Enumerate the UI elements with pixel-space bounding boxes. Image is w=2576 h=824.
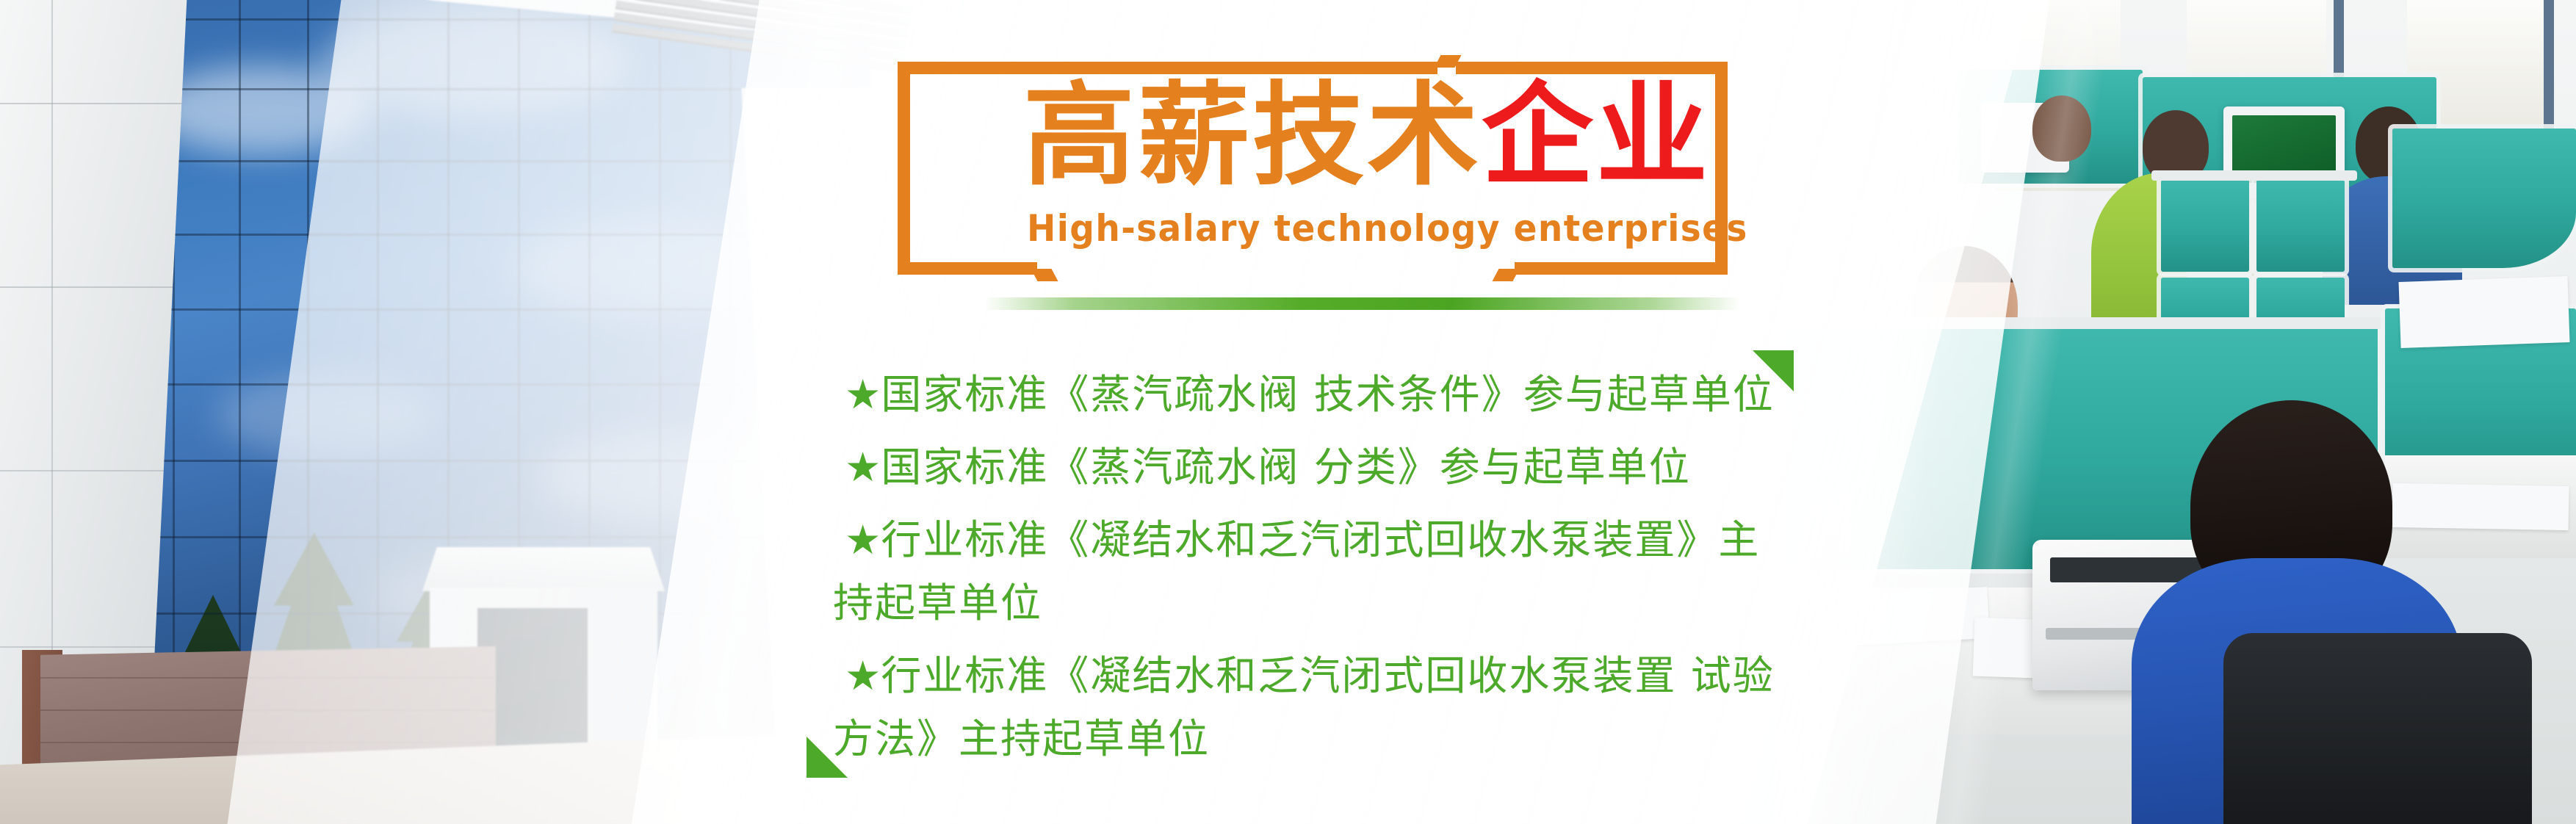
list-item: ★国家标准《蒸汽疏水阀 分类》参与起草单位 [845,434,1800,493]
frame-bevel-chip [1031,269,1058,281]
star-icon: ★ [845,652,881,699]
frame-left-bar [898,62,910,275]
list-item-continuation: 方法》主持起草单位 [833,706,1800,765]
page-subtitle: High-salary technology enterprises [1027,207,1748,250]
star-icon: ★ [845,444,881,491]
title-red-part: 企业 [1482,80,1711,192]
page-title: 高薪技术企业 [1023,70,1758,202]
list-item-continuation: 持起草单位 [833,570,1800,629]
list-item: ★国家标准《蒸汽疏水阀 技术条件》参与起草单位 [845,361,1800,420]
list-item-text: 方法》主持起草单位 [833,715,1210,762]
frame-bottom-right-bar [1515,262,1728,275]
green-divider-bar [984,297,1741,310]
title-orange-part: 高薪技术 [1023,80,1482,192]
list-item: ★行业标准《凝结水和乏汽闭式回收水泵装置》主 [845,507,1800,565]
list-item-text: 行业标准《凝结水和乏汽闭式回收水泵装置 试验 [881,652,1774,699]
hero-banner: 高薪技术企业 High-salary technology enterprise… [0,0,2576,824]
green-triangle-bottom-left-icon [807,737,848,778]
list-item-text: 国家标准《蒸汽疏水阀 分类》参与起草单位 [881,444,1690,491]
star-icon: ★ [845,516,881,563]
list-item-text: 国家标准《蒸汽疏水阀 技术条件》参与起草单位 [881,371,1774,418]
frame-bottom-left-bar [898,262,1037,275]
star-icon: ★ [845,371,881,418]
green-triangle-top-right-icon [1753,350,1794,391]
list-item: ★行业标准《凝结水和乏汽闭式回收水泵装置 试验 [845,643,1800,701]
frame-bevel-chip [1492,269,1519,281]
list-item-text: 行业标准《凝结水和乏汽闭式回收水泵装置》主 [881,516,1760,563]
list-item-text: 持起草单位 [833,579,1042,626]
banner-content: 高薪技术企业 High-salary technology enterprise… [0,0,2576,824]
bullet-list: ★国家标准《蒸汽疏水阀 技术条件》参与起草单位 ★国家标准《蒸汽疏水阀 分类》参… [845,361,1800,778]
